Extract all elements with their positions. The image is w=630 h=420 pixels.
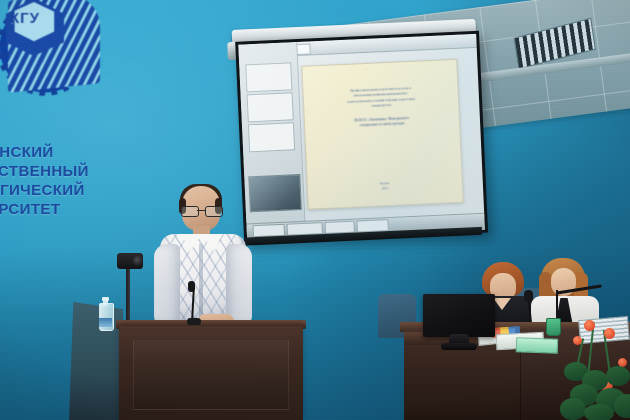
current-slide: Профессиональная подготовка и ее роль в …: [301, 59, 463, 210]
signage-line-2: РСТВЕННЫЙ: [0, 162, 89, 181]
plant-flower: [573, 336, 582, 345]
screen-frame: Профессиональная подготовка и ее роль в …: [235, 31, 488, 244]
plant-leaf: [560, 398, 586, 420]
green-cup: [546, 318, 561, 336]
panel-table-front: [404, 345, 521, 420]
camera-lens: [133, 256, 143, 266]
green-booklet-stack: [516, 337, 558, 353]
slide-thumbnail: [248, 122, 295, 152]
plant-flower: [604, 328, 615, 339]
plant-leaf: [606, 366, 630, 386]
emblem-letters: КГУ: [10, 10, 62, 40]
screen-projection-area: Профессиональная подготовка и ее роль в …: [238, 34, 485, 241]
signage-line-3: ОГИЧЕСКИЙ: [0, 181, 89, 200]
monitor-base: [441, 343, 477, 350]
lectern-side-panel: [69, 302, 123, 420]
photo-scene: КГУ АНСКИЙ РСТВЕННЫЙ ОГИЧЕСКИЙ ЕРСИТЕТ: [0, 0, 630, 420]
speaker-presenter: [152, 186, 256, 334]
eyeglasses-icon: [180, 206, 222, 215]
projection-screen: Профессиональная подготовка и ее роль в …: [231, 5, 494, 261]
podium-microphone-base: [187, 318, 201, 325]
plant-leaf: [614, 394, 630, 418]
glasses-lens-left: [181, 206, 199, 217]
speaker-arm-left: [154, 244, 180, 326]
speaker-arm-right: [226, 244, 252, 326]
plant-leaf: [584, 404, 614, 420]
glasses-lens-right: [205, 206, 223, 217]
slide-thumbnail: [245, 62, 292, 92]
camera-on-stand: [117, 253, 143, 275]
plant-flower: [584, 320, 595, 331]
bottle-label: [99, 318, 112, 327]
wall-signage: АНСКИЙ РСТВЕННЫЙ ОГИЧЕСКИЙ ЕРСИТЕТ: [0, 143, 89, 219]
slide-title: Профессиональная подготовка и ее роль в …: [313, 84, 448, 112]
lectern: [119, 326, 303, 420]
water-bottle: [99, 297, 112, 331]
lectern-front-panel: [133, 340, 289, 410]
slide-thumbnail: [247, 92, 294, 122]
signage-line-1: АНСКИЙ: [0, 143, 89, 162]
slide-subtitle: 38.06.01 «Экономика. Менеджмент» специал…: [315, 114, 449, 131]
table-microphone-head: [524, 290, 533, 302]
geranium-plant: [560, 318, 630, 420]
university-emblem: КГУ: [0, 0, 104, 110]
slide-image-placeholder: [248, 174, 302, 212]
monitor-panel: [423, 294, 495, 337]
signage-line-4: ЕРСИТЕТ: [0, 200, 89, 219]
slide-footer: Казань 2015: [318, 178, 452, 194]
speaker-shirt-placket: [199, 244, 203, 324]
glasses-bridge: [197, 210, 205, 211]
computer-monitor: [423, 294, 495, 344]
